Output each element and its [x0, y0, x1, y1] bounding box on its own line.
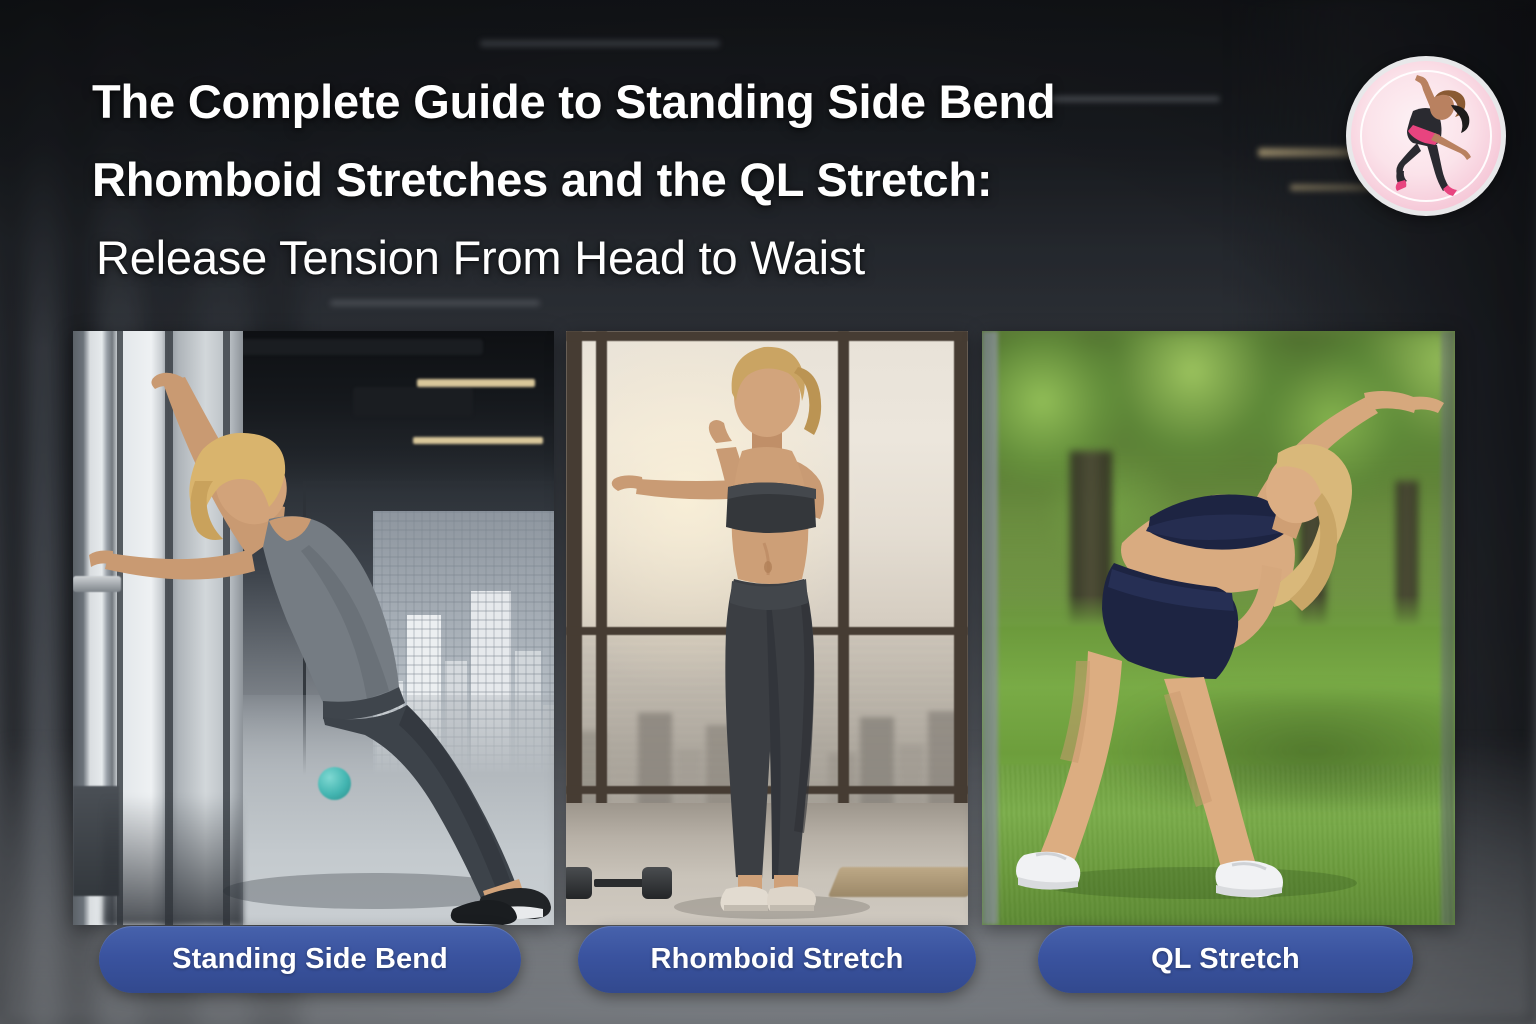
panel-3-person-figure	[982, 331, 1455, 925]
title-line-1: The Complete Guide to Standing Side Bend	[92, 63, 1322, 141]
logo-figure-icon	[1351, 61, 1501, 211]
title-line-3: Release Tension From Head to Waist	[92, 219, 1322, 297]
panel-1-person-figure	[73, 331, 554, 925]
caption-pill-rhomboid-stretch[interactable]: Rhomboid Stretch	[578, 926, 976, 993]
panel-standing-side-bend[interactable]	[73, 331, 554, 925]
panel-2-person-figure	[566, 331, 968, 925]
caption-pill-standing-side-bend[interactable]: Standing Side Bend	[99, 926, 521, 993]
panel-ql-stretch[interactable]	[982, 331, 1455, 925]
stretching-woman-logo-icon[interactable]	[1346, 56, 1506, 216]
page-title: The Complete Guide to Standing Side Bend…	[92, 63, 1322, 297]
panel-rhomboid-stretch[interactable]	[566, 331, 968, 925]
caption-pill-ql-stretch[interactable]: QL Stretch	[1038, 926, 1413, 993]
caption-label-1: Standing Side Bend	[172, 943, 448, 976]
title-line-2: Rhomboid Stretches and the QL Stretch:	[92, 141, 1322, 219]
caption-label-3: QL Stretch	[1151, 943, 1300, 976]
caption-label-2: Rhomboid Stretch	[651, 943, 904, 976]
